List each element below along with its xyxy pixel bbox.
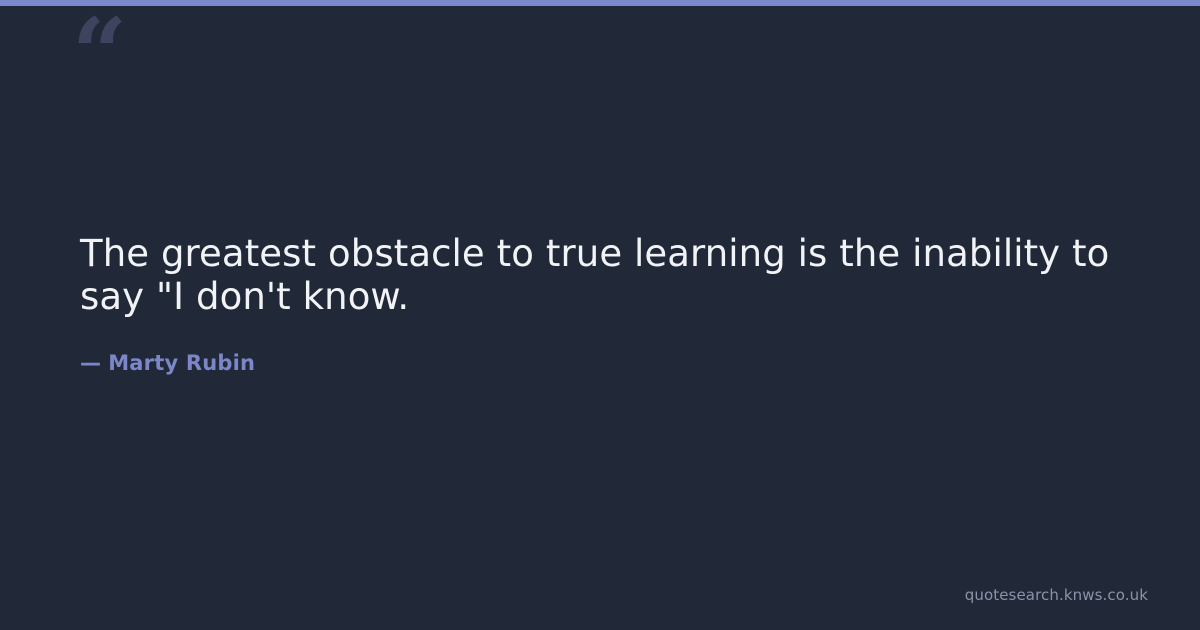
attribution-dash: —	[80, 351, 101, 375]
quote-text: The greatest obstacle to true learning i…	[80, 232, 1128, 318]
top-accent-bar	[0, 0, 1200, 6]
attribution-author: Marty Rubin	[108, 351, 255, 375]
quote-body: The greatest obstacle to true learning i…	[80, 232, 1128, 376]
site-watermark: quotesearch.knws.co.uk	[965, 586, 1148, 604]
opening-quote-icon: “	[72, 6, 125, 102]
quote-attribution: —Marty Rubin	[80, 318, 1128, 376]
quote-card: “ The greatest obstacle to true learning…	[0, 0, 1200, 630]
